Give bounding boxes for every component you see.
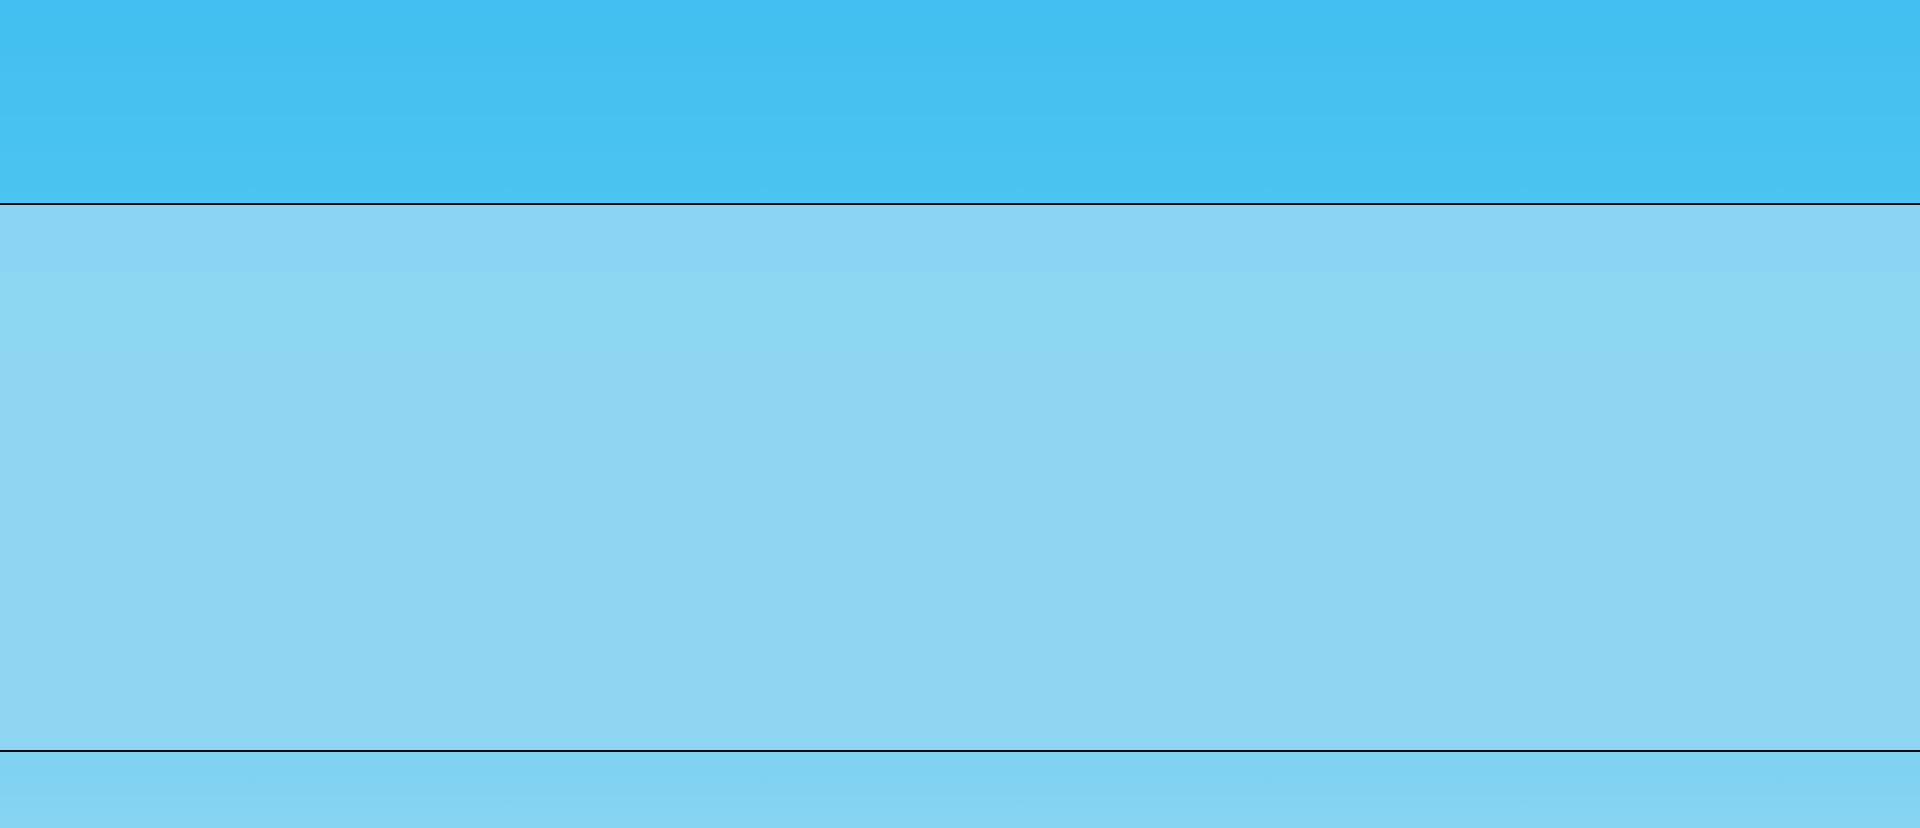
bottom-axis xyxy=(0,749,1920,828)
spectra-canvas xyxy=(0,205,1920,750)
spectra-plot xyxy=(0,203,1920,752)
top-axis xyxy=(0,160,1920,205)
spectra-banner xyxy=(0,0,1920,828)
